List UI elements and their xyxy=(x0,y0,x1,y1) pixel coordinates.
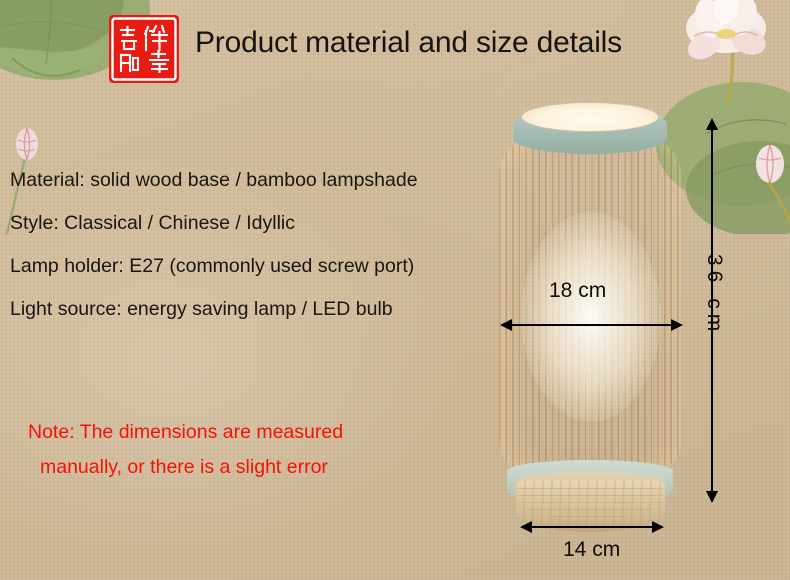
width-arrow-left-icon xyxy=(500,319,512,331)
base-arrow-left-icon xyxy=(520,521,532,533)
width-dimension-line xyxy=(503,324,680,326)
spec-light-source: Light source: energy saving lamp / LED b… xyxy=(10,296,510,339)
height-dimension-label: 36 cm xyxy=(702,254,726,336)
product-detail-image: Product material and size details Materi… xyxy=(0,0,790,580)
height-arrow-top-icon xyxy=(706,118,718,130)
wood-grain-rings xyxy=(517,488,663,518)
base-dimension-line xyxy=(524,526,662,528)
lamp-inner-glow xyxy=(521,212,661,422)
note-line-2: manually, or there is a slight error xyxy=(28,450,343,485)
product-spec-list: Material: solid wood base / bamboo lamps… xyxy=(10,167,510,339)
spec-style: Style: Classical / Chinese / Idyllic xyxy=(10,210,510,253)
measurement-note: Note: The dimensions are measured manual… xyxy=(28,415,343,485)
base-dimension-label: 14 cm xyxy=(563,538,620,562)
width-dimension-label: 18 cm xyxy=(549,279,606,303)
chinese-seal-stamp-icon xyxy=(108,14,180,84)
note-line-1: Note: The dimensions are measured xyxy=(28,415,343,450)
width-arrow-right-icon xyxy=(671,319,683,331)
lampshade-top-opening xyxy=(521,102,659,132)
base-arrow-right-icon xyxy=(652,521,664,533)
page-title: Product material and size details xyxy=(195,26,622,60)
spec-material: Material: solid wood base / bamboo lamps… xyxy=(10,167,510,210)
height-arrow-bottom-icon xyxy=(706,491,718,503)
spec-lamp-holder: Lamp holder: E27 (commonly used screw po… xyxy=(10,253,510,296)
